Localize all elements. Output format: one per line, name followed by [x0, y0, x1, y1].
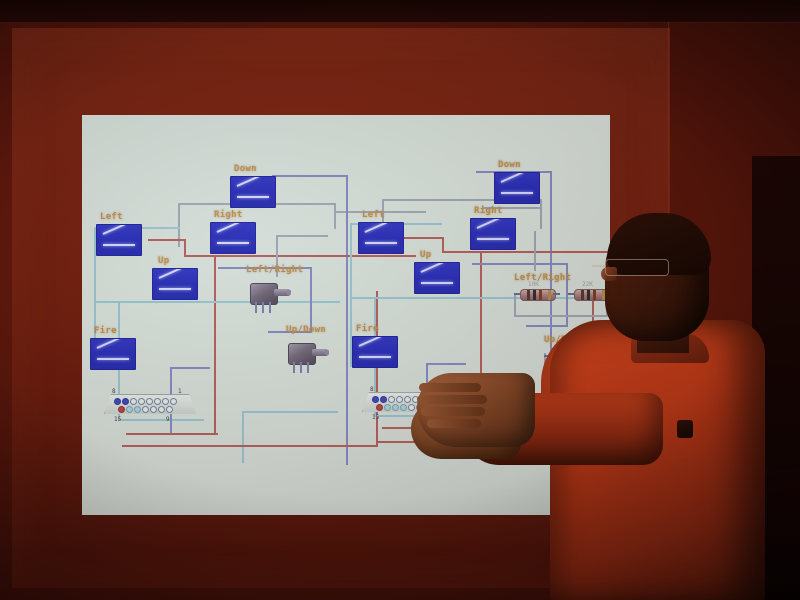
finger: [419, 383, 481, 392]
switch-label-up-right-circuit: Up: [420, 250, 431, 260]
wire: [242, 411, 338, 413]
connector-pin: [166, 406, 173, 413]
connector-pin: [118, 406, 125, 413]
connector-pin: [396, 396, 403, 403]
connector-pin: [154, 398, 161, 405]
presenter: [455, 205, 800, 600]
connector-pin: [384, 404, 391, 411]
connector-pin: [404, 396, 411, 403]
connector-pin: [372, 396, 379, 403]
presenter-pocket-badge: [677, 420, 693, 438]
pin-number-8: 8: [370, 386, 374, 393]
wire: [94, 301, 340, 303]
switch-rail-icon: [365, 242, 397, 244]
switch-fire-right-circuit[interactable]: [352, 336, 398, 368]
wire: [170, 367, 210, 369]
connector-pin: [400, 404, 407, 411]
potentiometer-tip-icon: [287, 290, 291, 295]
switch-rail-icon: [359, 356, 391, 358]
wire: [118, 419, 204, 421]
switch-down-right-circuit[interactable]: [494, 172, 540, 204]
potentiometer-left-right: [250, 281, 290, 315]
potentiometer-pin: [262, 302, 264, 313]
switch-lever-icon: [501, 172, 524, 183]
potentiometer-up-down: [288, 341, 328, 375]
presenter-hand: [417, 373, 535, 447]
switch-rail-icon: [97, 358, 129, 360]
connector-pin: [134, 406, 141, 413]
connector-pin: [162, 398, 169, 405]
wire: [148, 239, 186, 241]
finger: [417, 395, 487, 404]
switch-up[interactable]: [152, 268, 198, 300]
wire: [404, 237, 444, 239]
wire: [310, 267, 312, 333]
switch-lever-icon: [421, 262, 444, 273]
switch-rail-icon: [237, 196, 269, 198]
connector-pin: [150, 406, 157, 413]
pin-number-15: 15: [372, 414, 379, 421]
switch-label-left: Left: [100, 212, 123, 222]
switch-label-left-right-circuit: Left: [362, 210, 385, 220]
potentiometer-pin: [269, 302, 271, 313]
connector-pin: [380, 396, 387, 403]
switch-rail-icon: [501, 192, 533, 194]
potentiometer-tip-icon: [325, 350, 329, 355]
presentation-scene: Down Left Right Up Fire: [0, 0, 800, 600]
switch-up-right-circuit[interactable]: [414, 262, 460, 294]
db15-connector-left: 8 1 15 9: [104, 390, 196, 416]
connector-pin: [126, 406, 133, 413]
wire: [242, 411, 244, 463]
wire: [126, 433, 218, 435]
wire: [376, 291, 378, 447]
component-label-up-down: Up/Down: [286, 325, 326, 335]
switch-label-up: Up: [158, 256, 169, 266]
switch-lever-icon: [97, 338, 120, 349]
pin-number-8: 8: [112, 388, 116, 395]
pin-number-15: 15: [114, 416, 121, 423]
connector-pin: [170, 398, 177, 405]
pin-number-1: 1: [178, 388, 182, 395]
connector-pin: [408, 404, 415, 411]
component-label-left-right: Left/Right: [246, 265, 303, 275]
switch-rail-icon: [159, 288, 191, 290]
switch-fire[interactable]: [90, 338, 136, 370]
wire: [346, 175, 348, 465]
switch-label-down-right-circuit: Down: [498, 160, 521, 170]
switch-lever-icon: [359, 336, 382, 347]
wire: [276, 235, 328, 237]
switch-rail-icon: [421, 282, 453, 284]
switch-label-fire-right-circuit: Fire: [356, 324, 379, 334]
connector-pin: [138, 398, 145, 405]
connector-pin: [146, 398, 153, 405]
switch-lever-icon: [365, 222, 388, 233]
potentiometer-pin: [300, 362, 302, 373]
switch-label-fire: Fire: [94, 326, 117, 336]
potentiometer-pin: [293, 362, 295, 373]
switch-left-right-circuit[interactable]: [358, 222, 404, 254]
connector-pin: [392, 404, 399, 411]
connector-pin: [122, 398, 129, 405]
ceiling-soffit: [0, 0, 800, 23]
switch-down[interactable]: [230, 176, 276, 208]
pin-number-9: 9: [166, 416, 170, 423]
switch-lever-icon: [159, 268, 182, 279]
potentiometer-pin: [307, 362, 309, 373]
connector-pin: [130, 398, 137, 405]
switch-left[interactable]: [96, 224, 142, 256]
switch-right[interactable]: [210, 222, 256, 254]
potentiometer-pin: [255, 302, 257, 313]
finger: [427, 419, 481, 428]
switch-rail-icon: [217, 242, 249, 244]
connector-pin: [158, 406, 165, 413]
connector-pin: [376, 404, 383, 411]
wire: [334, 203, 336, 229]
connector-pin: [388, 396, 395, 403]
wire: [184, 255, 416, 257]
switch-lever-icon: [237, 176, 260, 187]
switch-label-right: Right: [214, 210, 243, 220]
switch-rail-icon: [103, 244, 135, 246]
finger: [421, 407, 485, 416]
switch-label-down: Down: [234, 164, 257, 174]
switch-lever-icon: [217, 222, 240, 233]
switch-lever-icon: [103, 224, 126, 235]
wire: [214, 255, 216, 435]
connector-pin: [142, 406, 149, 413]
wire: [272, 175, 348, 177]
connector-pin: [114, 398, 121, 405]
wire: [122, 445, 378, 447]
glasses-icon: [605, 259, 669, 276]
